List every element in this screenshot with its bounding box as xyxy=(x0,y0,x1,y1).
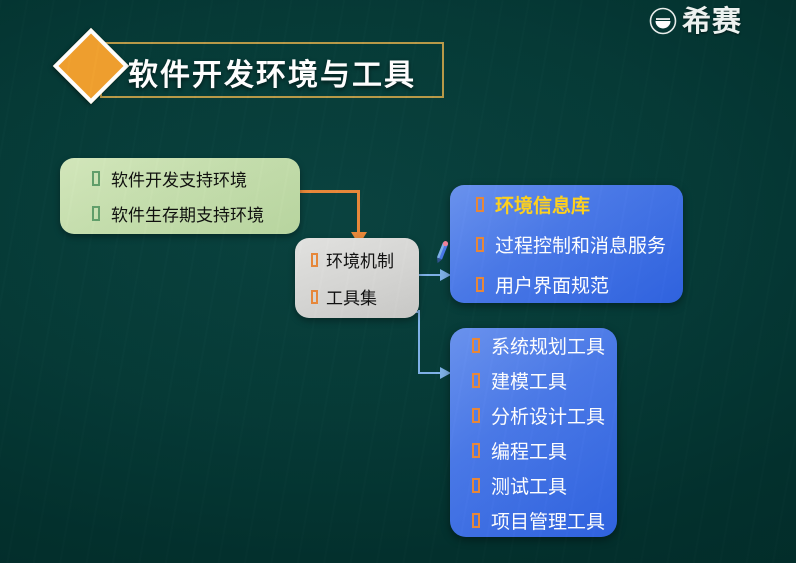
list-item-label: 工具集 xyxy=(326,284,377,309)
list-item-label: 建模工具 xyxy=(491,367,567,394)
list-item: 测试工具 xyxy=(472,472,617,499)
bullet-icon xyxy=(311,253,318,267)
slide-title-block: 软件开发环境与工具 xyxy=(38,36,410,108)
list-item: 软件开发支持环境 xyxy=(92,166,300,191)
list-item-label: 过程控制和消息服务 xyxy=(495,231,666,258)
list-item: 环境信息库 xyxy=(476,191,683,218)
list-item-label: 环境信息库 xyxy=(495,191,590,218)
bullet-icon xyxy=(476,197,484,212)
list-item-label: 编程工具 xyxy=(491,437,567,464)
bullet-icon xyxy=(92,206,100,221)
list-item: 项目管理工具 xyxy=(472,507,617,534)
card-tool-set: 系统规划工具 建模工具 分析设计工具 编程工具 测试工具 项目管理工具 xyxy=(450,328,617,537)
list-item-label: 项目管理工具 xyxy=(491,507,605,534)
bullet-icon xyxy=(472,373,480,388)
bullet-icon xyxy=(476,237,484,252)
list-item: 用户界面规范 xyxy=(476,271,683,298)
list-item: 分析设计工具 xyxy=(472,402,617,429)
list-item: 软件生存期支持环境 xyxy=(92,201,300,226)
bullet-icon xyxy=(472,408,480,423)
bullet-icon xyxy=(472,478,480,493)
brand-logo: 希赛 xyxy=(648,6,742,36)
slide-canvas: 希赛 软件开发环境与工具 软件开发支持环境 软件生存期支持环境 环境机制 xyxy=(0,0,796,563)
card-environment-mechanism: 环境信息库 过程控制和消息服务 用户界面规范 xyxy=(450,185,683,303)
pen-cursor-icon xyxy=(431,240,453,266)
list-item-label: 测试工具 xyxy=(491,472,567,499)
brand-name: 希赛 xyxy=(682,7,742,36)
bullet-icon xyxy=(92,171,100,186)
list-item-label: 分析设计工具 xyxy=(491,402,605,429)
list-item: 建模工具 xyxy=(472,367,617,394)
bullet-icon xyxy=(472,443,480,458)
list-item-label: 用户界面规范 xyxy=(495,271,609,298)
list-item-label: 系统规划工具 xyxy=(491,332,605,359)
bullet-icon xyxy=(311,290,318,304)
list-item: 环境机制 xyxy=(311,247,419,272)
list-item: 系统规划工具 xyxy=(472,332,617,359)
list-item: 过程控制和消息服务 xyxy=(476,231,683,258)
bullet-icon xyxy=(476,277,484,292)
connector-green-to-gray-vertical xyxy=(357,190,360,238)
list-item-label: 软件生存期支持环境 xyxy=(111,201,264,226)
list-item-label: 软件开发支持环境 xyxy=(111,166,247,191)
bullet-icon xyxy=(472,513,480,528)
connector-gray-to-tools-vertical xyxy=(418,310,420,374)
list-item: 编程工具 xyxy=(472,437,617,464)
card-environment-composition: 环境机制 工具集 xyxy=(295,238,419,318)
xisai-mark-icon xyxy=(648,6,678,36)
list-item: 工具集 xyxy=(311,284,419,309)
page-title: 软件开发环境与工具 xyxy=(128,50,416,94)
bullet-icon xyxy=(472,338,480,353)
card-support-environments: 软件开发支持环境 软件生存期支持环境 xyxy=(60,158,300,234)
list-item-label: 环境机制 xyxy=(326,247,394,272)
